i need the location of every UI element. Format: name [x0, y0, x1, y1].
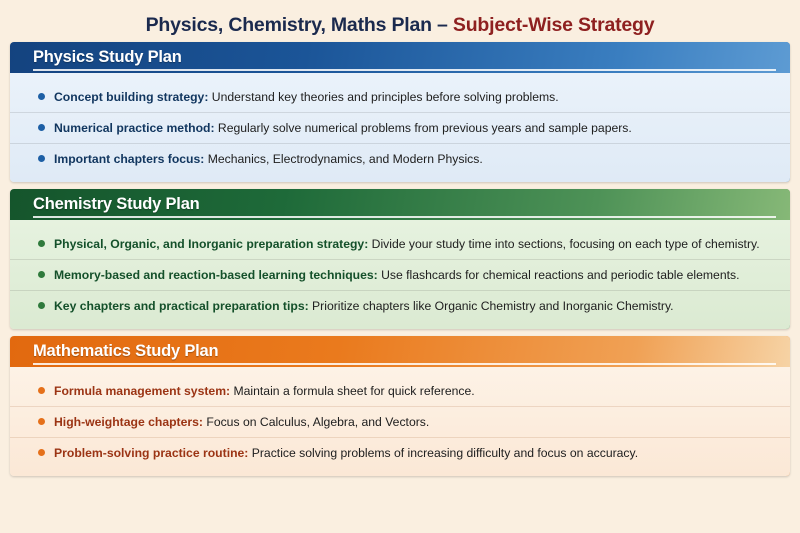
page-title-main: Physics, Chemistry, Maths Plan –: [146, 14, 453, 36]
list-item[interactable]: Key chapters and practical preparation t…: [10, 290, 790, 321]
list-item-text: Numerical practice method: Regularly sol…: [54, 113, 632, 143]
list-item-desc: Mechanics, Electrodynamics, and Modern P…: [204, 152, 482, 166]
bullet-dot-icon: [38, 302, 45, 309]
list-item-text: Problem-solving practice routine: Practi…: [54, 438, 638, 468]
list-item[interactable]: Memory-based and reaction-based learning…: [10, 259, 790, 290]
list-item-text: Concept building strategy: Understand ke…: [54, 82, 559, 112]
list-item-text: Important chapters focus: Mechanics, Ele…: [54, 144, 483, 174]
section-body-chemistry: Physical, Organic, and Inorganic prepara…: [10, 220, 790, 329]
list-item-label: Numerical practice method:: [54, 121, 215, 135]
section-body-physics: Concept building strategy: Understand ke…: [10, 73, 790, 182]
bullet-dot-icon: [38, 449, 45, 456]
bullet-dot-icon: [38, 271, 45, 278]
list-item-text: Formula management system: Maintain a fo…: [54, 376, 475, 406]
section-card-physics: Physics Study Plan: [10, 42, 790, 182]
bullet-dot-icon: [38, 124, 45, 131]
list-item-label: Physical, Organic, and Inorganic prepara…: [54, 237, 368, 251]
section-heading-label: Mathematics Study Plan: [33, 342, 218, 361]
list-item-label: Key chapters and practical preparation t…: [54, 299, 309, 313]
bullet-dot-icon: [38, 387, 45, 394]
list-item-desc: Practice solving problems of increasing …: [248, 446, 638, 460]
header-underline: [33, 69, 776, 71]
list-item-text: Key chapters and practical preparation t…: [54, 291, 674, 321]
bullet-dot-icon: [38, 240, 45, 247]
list-item[interactable]: Formula management system: Maintain a fo…: [10, 376, 790, 406]
page-title: Physics, Chemistry, Maths Plan – Subject…: [10, 8, 790, 42]
list-item[interactable]: Important chapters focus: Mechanics, Ele…: [10, 143, 790, 174]
list-item-desc: Focus on Calculus, Algebra, and Vectors.: [203, 415, 429, 429]
bullet-dot-icon: [38, 93, 45, 100]
list-item[interactable]: High-weightage chapters: Focus on Calcul…: [10, 406, 790, 437]
list-item[interactable]: Problem-solving practice routine: Practi…: [10, 437, 790, 468]
list-item-text: Memory-based and reaction-based learning…: [54, 260, 739, 290]
list-item-desc: Understand key theories and principles b…: [208, 90, 558, 104]
page-title-accent: Subject-Wise Strategy: [453, 14, 655, 36]
list-item-label: Formula management system:: [54, 384, 230, 398]
list-item-desc: Use flashcards for chemical reactions an…: [378, 268, 740, 282]
header-underline: [33, 363, 776, 365]
page-title-text: Physics, Chemistry, Maths Plan – Subject…: [146, 14, 655, 37]
list-item-label: Important chapters focus:: [54, 152, 204, 166]
list-item[interactable]: Physical, Organic, and Inorganic prepara…: [10, 229, 790, 259]
section-header-physics: Physics Study Plan: [10, 42, 790, 73]
list-item[interactable]: Concept building strategy: Understand ke…: [10, 82, 790, 112]
section-header-mathematics: Mathematics Study Plan: [10, 336, 790, 367]
list-item-desc: Prioritize chapters like Organic Chemist…: [309, 299, 674, 313]
list-item-desc: Divide your study time into sections, fo…: [368, 237, 759, 251]
list-item-label: High-weightage chapters:: [54, 415, 203, 429]
section-header-chemistry: Chemistry Study Plan: [10, 189, 790, 220]
section-card-chemistry: Chemistry Study Plan: [10, 189, 790, 329]
header-underline: [33, 216, 776, 218]
list-item-label: Problem-solving practice routine:: [54, 446, 248, 460]
bullet-dot-icon: [38, 418, 45, 425]
list-item-text: Physical, Organic, and Inorganic prepara…: [54, 229, 760, 259]
list-item-label: Concept building strategy:: [54, 90, 208, 104]
list-item-text: High-weightage chapters: Focus on Calcul…: [54, 407, 429, 437]
section-heading-label: Chemistry Study Plan: [33, 195, 200, 214]
list-item-desc: Maintain a formula sheet for quick refer…: [230, 384, 475, 398]
poster-canvas: Physics, Chemistry, Maths Plan – Subject…: [0, 0, 800, 533]
list-item[interactable]: Numerical practice method: Regularly sol…: [10, 112, 790, 143]
list-item-label: Memory-based and reaction-based learning…: [54, 268, 378, 282]
bullet-dot-icon: [38, 155, 45, 162]
list-item-desc: Regularly solve numerical problems from …: [215, 121, 632, 135]
section-heading-label: Physics Study Plan: [33, 48, 182, 67]
section-card-mathematics: Mathematics Study Plan: [10, 336, 790, 476]
section-body-mathematics: Formula management system: Maintain a fo…: [10, 367, 790, 476]
